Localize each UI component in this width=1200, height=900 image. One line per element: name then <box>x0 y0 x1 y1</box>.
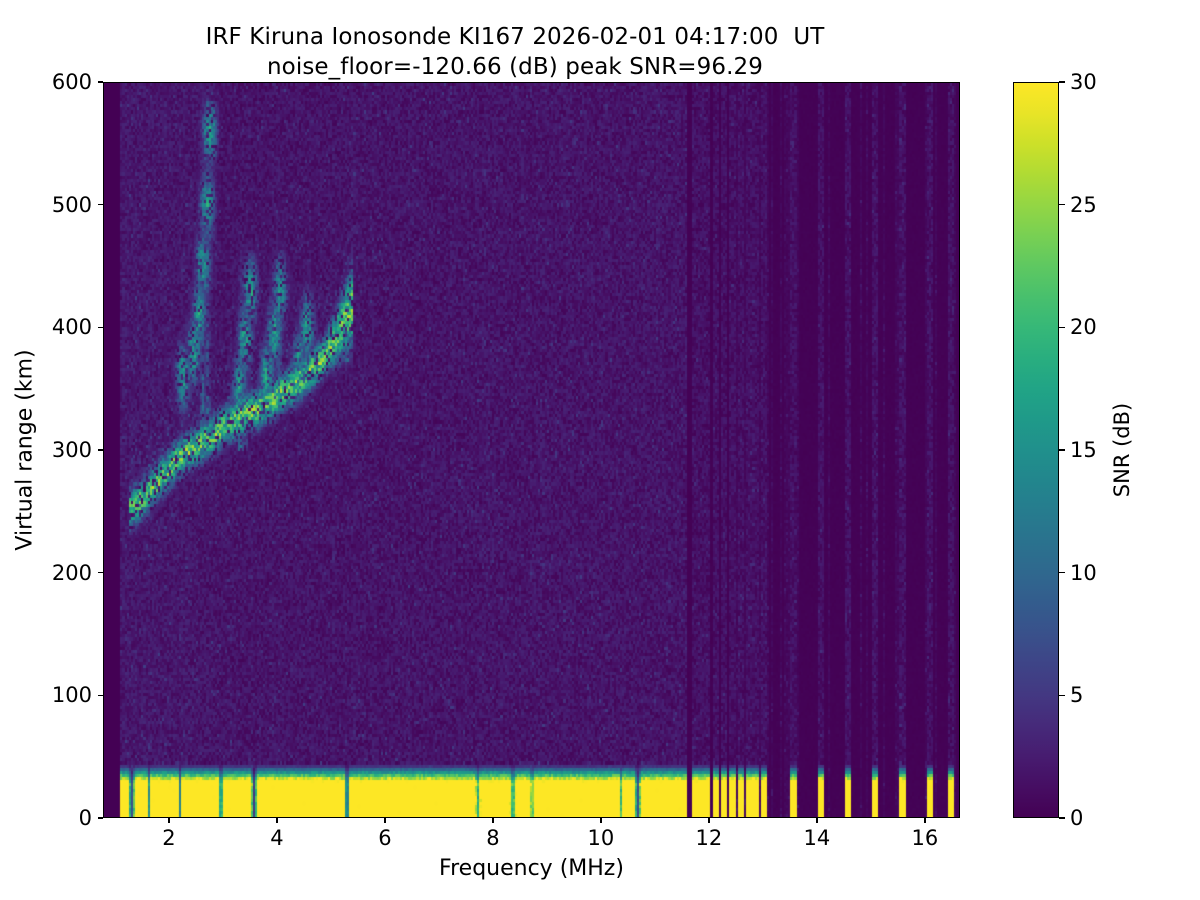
ionogram-heatmap-canvas <box>104 83 960 818</box>
colorbar-tick-label: 5 <box>1070 683 1083 707</box>
x-tick <box>600 818 601 823</box>
y-tick-label: 0 <box>79 806 92 830</box>
colorbar-tick <box>1059 327 1065 328</box>
colorbar-tick-label: 0 <box>1070 806 1083 830</box>
ionogram-plot-area <box>103 82 960 818</box>
y-tick-label: 100 <box>52 683 92 707</box>
y-tick <box>98 449 103 450</box>
ionogram-figure: IRF Kiruna Ionosonde KI167 2026-02-01 04… <box>0 0 1200 900</box>
x-tick-label: 16 <box>912 826 939 850</box>
colorbar-tick-label: 10 <box>1070 561 1097 585</box>
colorbar-tick <box>1059 572 1065 573</box>
colorbar-tick-label: 15 <box>1070 438 1097 462</box>
y-tick-label: 200 <box>52 561 92 585</box>
x-tick-label: 8 <box>486 826 499 850</box>
x-tick-label: 10 <box>588 826 615 850</box>
x-tick-label: 12 <box>696 826 723 850</box>
y-axis-label: Virtual range (km) <box>13 349 38 550</box>
x-tick <box>816 818 817 823</box>
y-tick <box>98 327 103 328</box>
colorbar <box>1013 82 1059 818</box>
colorbar-tick <box>1059 695 1065 696</box>
x-tick <box>276 818 277 823</box>
y-tick-label: 500 <box>52 193 92 217</box>
y-tick <box>98 81 103 82</box>
colorbar-tick-label: 25 <box>1070 193 1097 217</box>
x-tick <box>168 818 169 823</box>
colorbar-gradient <box>1014 83 1058 817</box>
y-tick <box>98 695 103 696</box>
x-tick-label: 2 <box>162 826 175 850</box>
y-tick-label: 300 <box>52 438 92 462</box>
y-tick-label: 600 <box>52 70 92 94</box>
y-tick <box>98 817 103 818</box>
colorbar-tick <box>1059 817 1065 818</box>
colorbar-tick <box>1059 204 1065 205</box>
figure-title-line2: noise_floor=-120.66 (dB) peak SNR=96.29 <box>0 52 1030 82</box>
x-tick <box>924 818 925 823</box>
y-tick-label: 400 <box>52 315 92 339</box>
x-tick <box>708 818 709 823</box>
x-tick <box>384 818 385 823</box>
colorbar-tick <box>1059 449 1065 450</box>
figure-title-line1: IRF Kiruna Ionosonde KI167 2026-02-01 04… <box>0 22 1030 52</box>
x-tick-label: 14 <box>804 826 831 850</box>
colorbar-label: SNR (dB) <box>1110 403 1134 497</box>
colorbar-tick <box>1059 81 1065 82</box>
y-tick <box>98 572 103 573</box>
x-tick-label: 6 <box>378 826 391 850</box>
colorbar-tick-label: 20 <box>1070 315 1097 339</box>
x-tick <box>492 818 493 823</box>
colorbar-tick-label: 30 <box>1070 70 1097 94</box>
x-axis-label: Frequency (MHz) <box>103 856 960 881</box>
y-tick <box>98 204 103 205</box>
x-tick-label: 4 <box>270 826 283 850</box>
